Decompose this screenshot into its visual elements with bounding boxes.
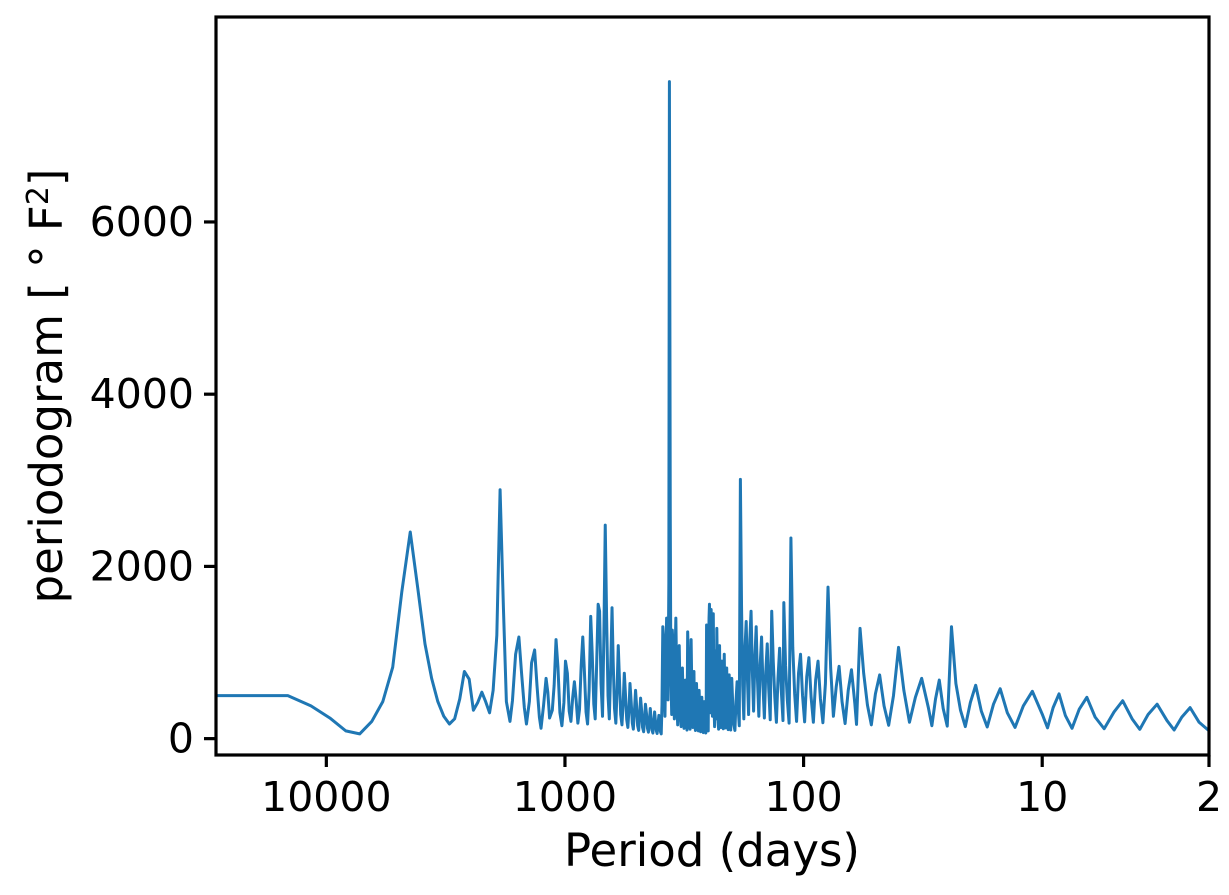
y-tick-label-0: 0 [168, 715, 194, 763]
x-tick-label-100: 100 [764, 773, 842, 821]
y-axis-title-exponent: 2 [21, 186, 56, 205]
x-axis-ticks [326, 755, 1209, 767]
y-axis-tick-labels: 0200040006000 [90, 198, 194, 763]
y-tick-label-2000: 2000 [90, 542, 194, 590]
y-axis-ticks [204, 222, 216, 739]
y-tick-label-6000: 6000 [90, 198, 194, 246]
x-tick-label-2: 2 [1196, 773, 1222, 821]
x-tick-label-1000: 1000 [513, 773, 617, 821]
y-axis-title-main: periodogram [ ° F [20, 205, 73, 603]
x-axis-title: Period (days) [564, 824, 860, 877]
figure-canvas: 100001000100102 0200040006000 Period (da… [0, 0, 1229, 895]
y-axis-title-tail: ] [20, 169, 73, 187]
x-tick-label-10: 10 [1016, 773, 1068, 821]
svg-text:periodogram [ ° F2]: periodogram [ ° F2] [20, 169, 73, 604]
y-tick-label-4000: 4000 [90, 370, 194, 418]
y-axis-title: periodogram [ ° F2] [20, 169, 73, 604]
x-tick-label-10000: 10000 [261, 773, 391, 821]
x-axis-tick-labels: 100001000100102 [261, 773, 1222, 821]
periodogram-chart: 100001000100102 0200040006000 Period (da… [0, 0, 1229, 895]
